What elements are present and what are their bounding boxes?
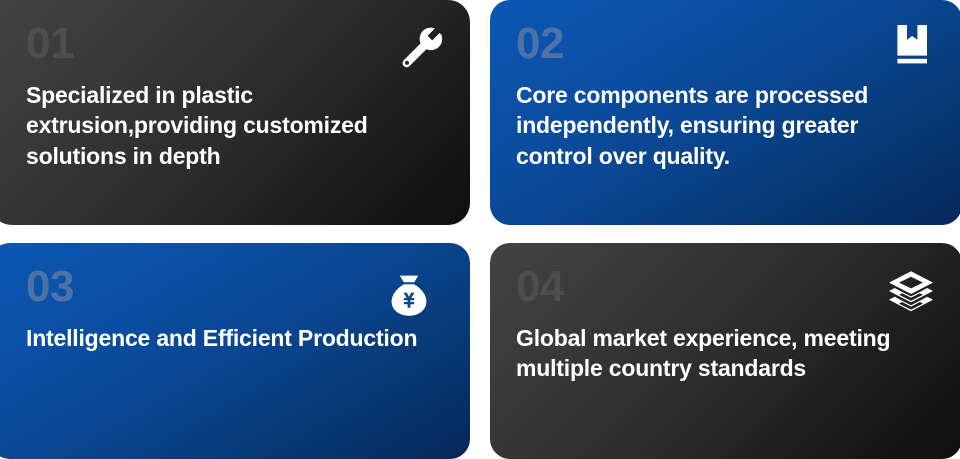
card-title: Specialized in plastic extrusion,providi… bbox=[26, 80, 444, 171]
card-number: 03 bbox=[26, 265, 444, 309]
feature-card-02[interactable]: 02 Core components are processed indepen… bbox=[490, 0, 960, 225]
card-number: 02 bbox=[516, 22, 936, 66]
card-number: 04 bbox=[516, 265, 936, 309]
feature-card-grid: 01 Specialized in plastic extrusion,prov… bbox=[0, 0, 960, 459]
card-number: 01 bbox=[26, 22, 444, 66]
card-title: Global market experience, meeting multip… bbox=[516, 323, 936, 384]
feature-card-04[interactable]: 04 Global market experience, meeting mul… bbox=[490, 243, 960, 459]
card-title: Core components are processed independen… bbox=[516, 80, 936, 171]
feature-card-03[interactable]: 03 Intelligence and Efficient Production bbox=[0, 243, 470, 459]
card-title: Intelligence and Efficient Production bbox=[26, 323, 444, 353]
feature-card-01[interactable]: 01 Specialized in plastic extrusion,prov… bbox=[0, 0, 470, 225]
